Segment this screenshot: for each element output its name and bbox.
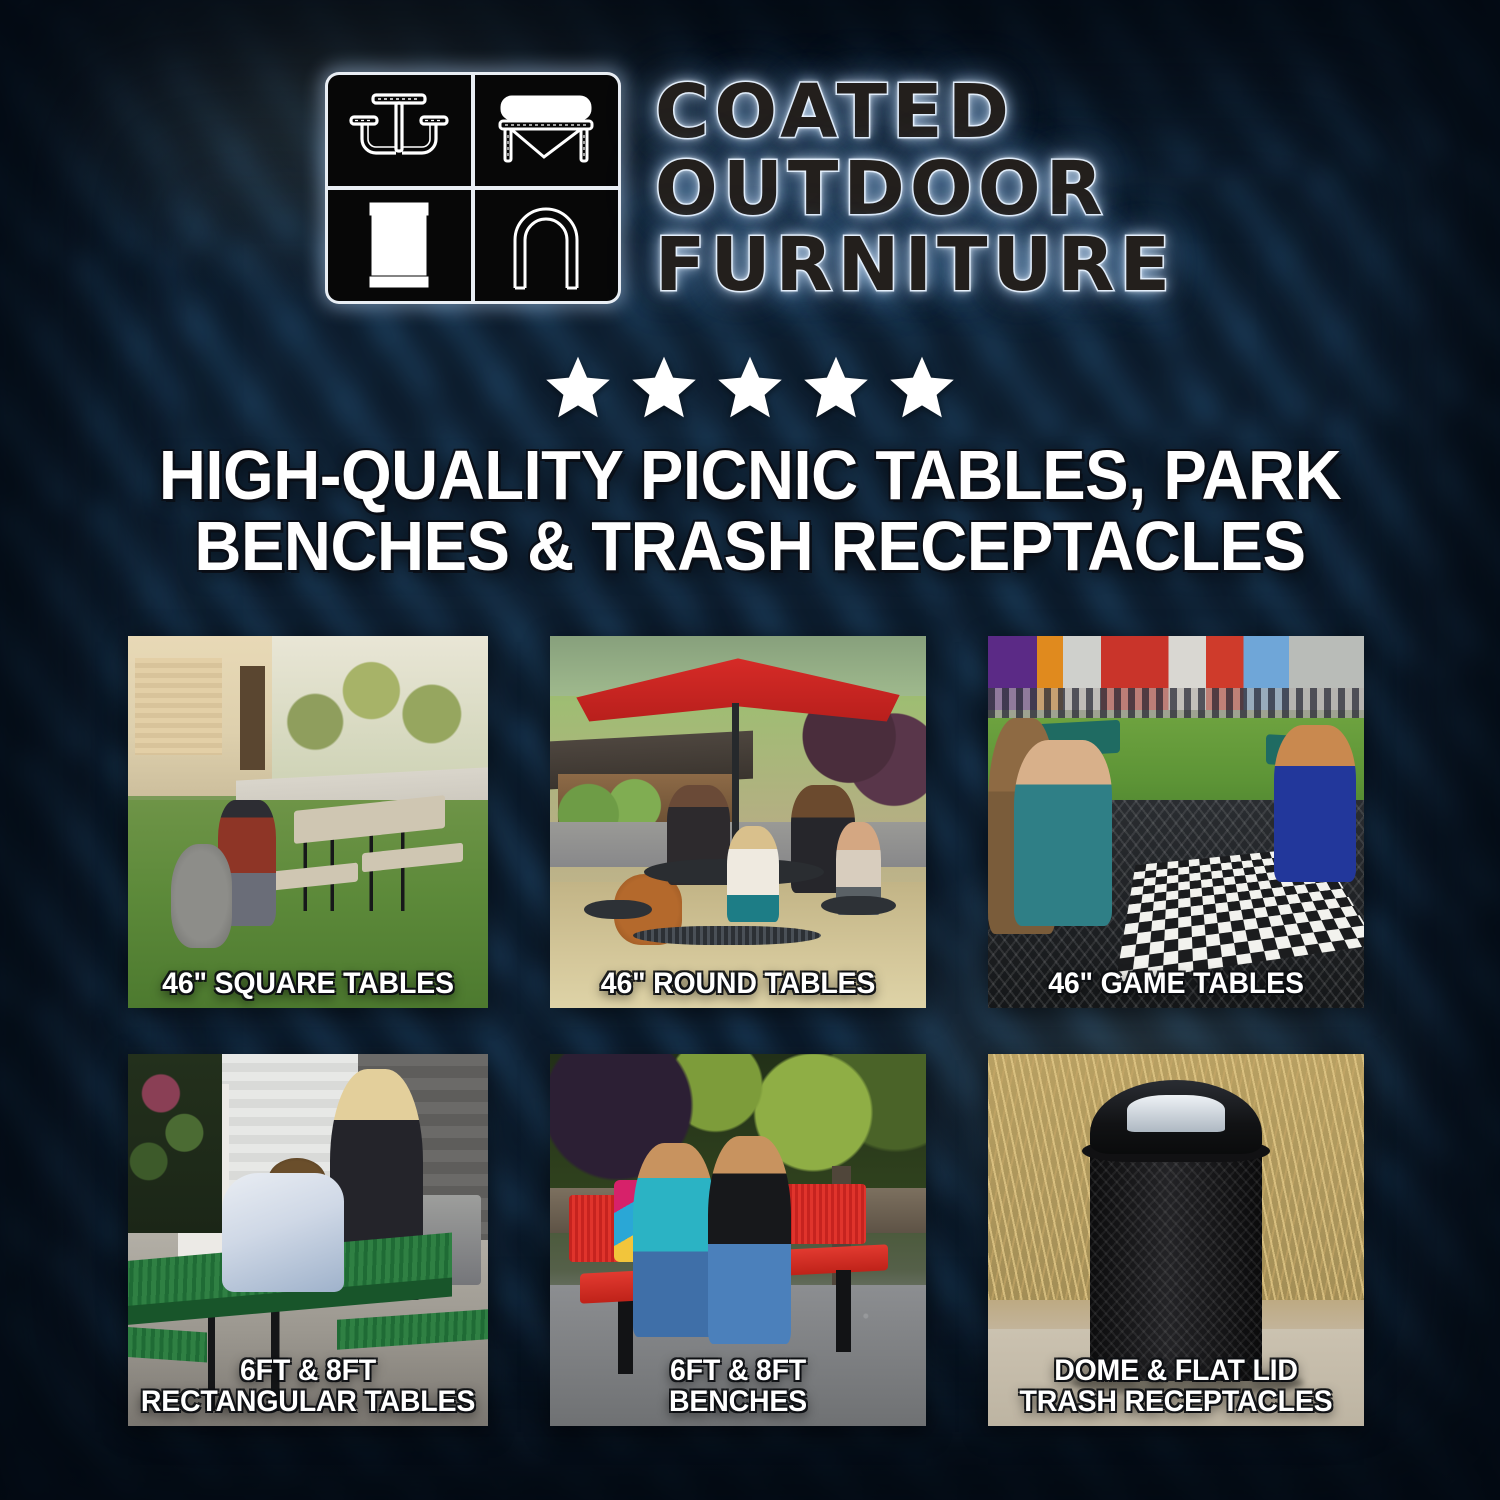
product-tile-benches[interactable]: 6FT & 8FT BENCHES (550, 1054, 926, 1426)
trash-receptacle-icon (361, 200, 437, 292)
product-photo-square-tables (128, 636, 488, 1008)
caption-line: BENCHES (559, 1387, 916, 1418)
product-photo-round-tables (550, 636, 926, 1008)
poster-content: COATED OUTDOOR FURNITURE HIGH-QUALITY PI… (0, 0, 1500, 1500)
product-grid: 46" SQUARE TABLES 46" ROUND TABLE (128, 636, 1376, 1426)
bench-icon (494, 91, 598, 171)
logo-cell-bike-rack (475, 190, 618, 301)
product-photo-game-tables (988, 636, 1364, 1008)
star-icon (628, 352, 700, 422)
caption-line: DOME & FLAT LID (997, 1356, 1354, 1387)
brand-name-line-2: OUTDOOR (655, 153, 1175, 226)
logo-cell-picnic-table (328, 75, 471, 186)
brand-name-line-3: FURNITURE (655, 229, 1175, 302)
star-icon (542, 352, 614, 422)
headline-line-2: BENCHES & TRASH RECEPTACLES (53, 511, 1448, 582)
headline-line-1: HIGH-QUALITY PICNIC TABLES, PARK (53, 440, 1448, 511)
star-icon (800, 352, 872, 422)
star-icon (886, 352, 958, 422)
logo-cell-bench (475, 75, 618, 186)
page-title: HIGH-QUALITY PICNIC TABLES, PARK BENCHES… (53, 440, 1448, 583)
caption-line: 6FT & 8FT (137, 1356, 479, 1387)
product-caption-benches: 6FT & 8FT BENCHES (559, 1356, 916, 1418)
bike-rack-icon (503, 200, 589, 292)
caption-line: 46" SQUARE TABLES (137, 969, 479, 1000)
caption-line: 6FT & 8FT (559, 1356, 916, 1387)
brand-logo (325, 72, 621, 304)
caption-line: 46" ROUND TABLES (559, 969, 916, 1000)
product-tile-trash-receptacles[interactable]: DOME & FLAT LID TRASH RECEPTACLES (988, 1054, 1364, 1426)
product-caption-trash-receptacles: DOME & FLAT LID TRASH RECEPTACLES (997, 1356, 1354, 1418)
poster-canvas: COATED OUTDOOR FURNITURE HIGH-QUALITY PI… (0, 0, 1500, 1500)
product-caption-square-tables: 46" SQUARE TABLES (137, 969, 479, 1000)
picnic-table-icon (347, 87, 451, 175)
star-icon (714, 352, 786, 422)
brand-header: COATED OUTDOOR FURNITURE (0, 72, 1500, 304)
caption-line: 46" GAME TABLES (997, 969, 1354, 1000)
product-tile-square-tables[interactable]: 46" SQUARE TABLES (128, 636, 488, 1008)
logo-cell-trash-receptacle (328, 190, 471, 301)
caption-line: TRASH RECEPTACLES (997, 1387, 1354, 1418)
brand-name-line-1: COATED (655, 76, 1175, 149)
product-caption-rectangular-tables: 6FT & 8FT RECTANGULAR TABLES (137, 1356, 479, 1418)
brand-wordmark: COATED OUTDOOR FURNITURE (655, 72, 1175, 302)
caption-line: RECTANGULAR TABLES (137, 1387, 479, 1418)
product-tile-game-tables[interactable]: 46" GAME TABLES (988, 636, 1364, 1008)
star-rating (0, 352, 1500, 422)
product-caption-game-tables: 46" GAME TABLES (997, 969, 1354, 1000)
product-tile-round-tables[interactable]: 46" ROUND TABLES (550, 636, 926, 1008)
product-caption-round-tables: 46" ROUND TABLES (559, 969, 916, 1000)
product-tile-rectangular-tables[interactable]: 6FT & 8FT RECTANGULAR TABLES (128, 1054, 488, 1426)
